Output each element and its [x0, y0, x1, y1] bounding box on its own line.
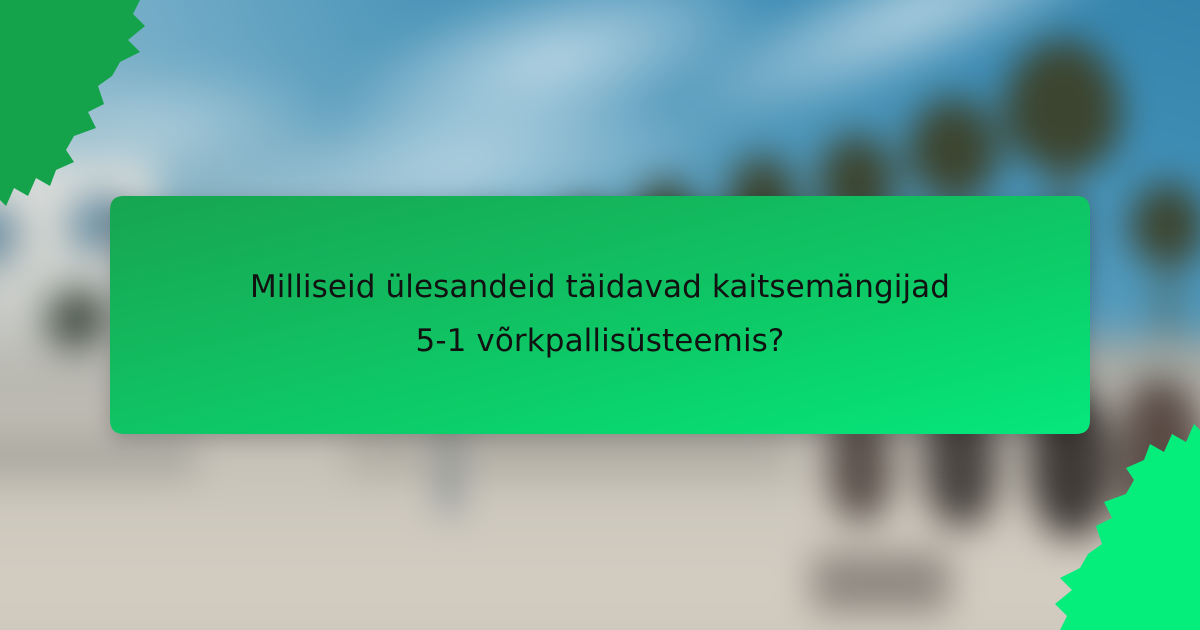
person-silhouette	[1119, 379, 1200, 549]
window-blob	[47, 289, 111, 353]
question-ribbon: Milliseid ülesandeid täidavad kaitsemäng…	[110, 196, 1090, 434]
court-line	[346, 428, 791, 477]
image-canvas: Milliseid ülesandeid täidavad kaitsemäng…	[0, 0, 1200, 630]
question-line-1: Milliseid ülesandeid täidavad kaitsemäng…	[250, 270, 950, 306]
shadow-patch	[812, 554, 950, 612]
court-line	[0, 437, 197, 479]
question-text: Milliseid ülesandeid täidavad kaitsemäng…	[110, 196, 1090, 434]
question-line-2: 5-1 võrkpallisüsteemis?	[416, 324, 785, 360]
